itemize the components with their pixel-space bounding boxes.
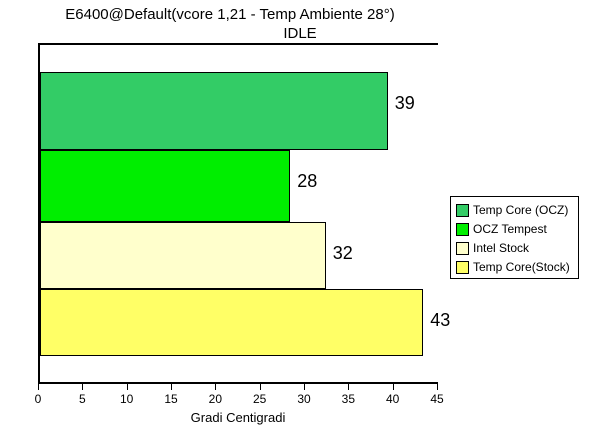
- x-tick-label-5: 5: [67, 392, 97, 406]
- bar-value-label-2: 32: [333, 244, 353, 262]
- legend-swatch-icon-2: [456, 242, 469, 255]
- x-tick-mark-20: [215, 384, 216, 390]
- legend-swatch-icon-0: [456, 204, 469, 217]
- plot-top-rule: [38, 43, 438, 45]
- x-tick-mark-30: [304, 384, 305, 390]
- x-tick-label-40: 40: [378, 392, 408, 406]
- bar-value-label-1: 28: [297, 172, 317, 190]
- x-tick-mark-40: [393, 384, 394, 390]
- legend-swatch-icon-3: [456, 261, 469, 274]
- x-tick-label-10: 10: [112, 392, 142, 406]
- x-tick-label-0: 0: [23, 392, 53, 406]
- legend-swatch-icon-1: [456, 223, 469, 236]
- chart-legend: Temp Core (OCZ)OCZ TempestIntel StockTem…: [450, 196, 579, 279]
- chart-title: E6400@Default(vcore 1,21 - Temp Ambiente…: [0, 5, 460, 24]
- bar-3: [40, 289, 423, 356]
- x-tick-mark-0: [38, 384, 39, 390]
- bar-1: [40, 150, 290, 222]
- x-tick-mark-25: [260, 384, 261, 390]
- x-tick-mark-15: [171, 384, 172, 390]
- chart-subtitle: IDLE: [0, 24, 600, 43]
- legend-item-1[interactable]: OCZ Tempest: [456, 220, 578, 239]
- x-axis-title: Gradi Centigradi: [38, 410, 438, 426]
- x-tick-mark-45: [437, 384, 438, 390]
- legend-item-label-3: Temp Core(Stock): [473, 261, 570, 274]
- bar-value-label-3: 43: [430, 311, 450, 329]
- x-tick-label-15: 15: [156, 392, 186, 406]
- x-axis-line: [38, 382, 438, 384]
- x-tick-label-20: 20: [200, 392, 230, 406]
- x-tick-label-35: 35: [333, 392, 363, 406]
- x-tick-label-25: 25: [245, 392, 275, 406]
- x-tick-label-45: 45: [422, 392, 452, 406]
- x-tick-mark-35: [348, 384, 349, 390]
- legend-item-3[interactable]: Temp Core(Stock): [456, 258, 578, 277]
- x-tick-mark-5: [82, 384, 83, 390]
- x-tick-label-30: 30: [289, 392, 319, 406]
- legend-item-2[interactable]: Intel Stock: [456, 239, 578, 258]
- x-tick-mark-10: [127, 384, 128, 390]
- bar-value-label-0: 39: [395, 94, 415, 112]
- legend-item-label-2: Intel Stock: [473, 242, 529, 255]
- legend-item-label-1: OCZ Tempest: [473, 223, 547, 236]
- legend-item-label-0: Temp Core (OCZ): [473, 204, 568, 217]
- bar-2: [40, 222, 326, 289]
- legend-item-0[interactable]: Temp Core (OCZ): [456, 201, 578, 220]
- bar-0: [40, 72, 388, 150]
